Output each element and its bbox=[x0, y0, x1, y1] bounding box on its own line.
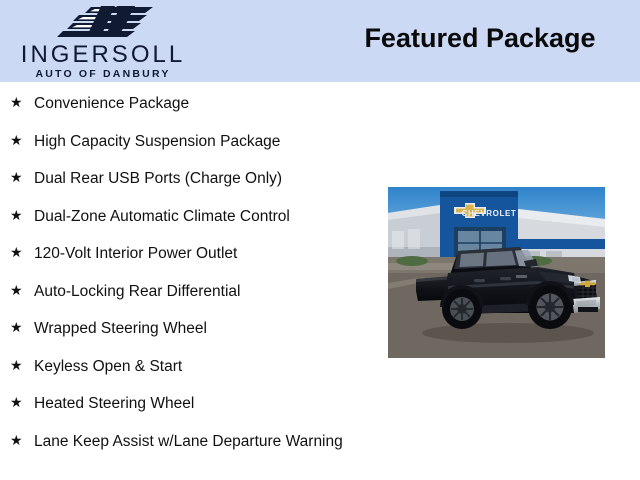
header-band: INGERSOLL AUTO OF DANBURY Featured Packa… bbox=[0, 0, 640, 82]
star-bullet-icon: ★ bbox=[10, 280, 23, 301]
svg-text:CHEVROLET: CHEVROLET bbox=[462, 209, 517, 218]
vehicle-photo: CHEVROLET bbox=[388, 187, 605, 358]
list-item-label: High Capacity Suspension Package bbox=[34, 131, 280, 152]
winged-dealer-emblem-icon bbox=[49, 4, 161, 38]
list-item: ★ Dual-Zone Automatic Climate Control bbox=[8, 201, 360, 239]
list-item-label: Auto-Locking Rear Differential bbox=[34, 281, 241, 302]
list-item: ★ Convenience Package bbox=[8, 88, 360, 126]
list-item-label: Dual Rear USB Ports (Charge Only) bbox=[34, 168, 282, 189]
dealer-tagline: AUTO OF DANBURY bbox=[0, 68, 206, 80]
star-bullet-icon: ★ bbox=[10, 242, 23, 263]
list-item-label: Dual-Zone Automatic Climate Control bbox=[34, 206, 290, 227]
star-bullet-icon: ★ bbox=[10, 392, 23, 413]
featured-package-slide: INGERSOLL AUTO OF DANBURY Featured Packa… bbox=[0, 0, 640, 480]
list-item: ★ Heated Steering Wheel bbox=[8, 388, 360, 426]
star-bullet-icon: ★ bbox=[10, 167, 23, 188]
star-bullet-icon: ★ bbox=[10, 205, 23, 226]
list-item-label: Wrapped Steering Wheel bbox=[34, 318, 207, 339]
list-item: ★ Lane Keep Assist w/Lane Departure Warn… bbox=[8, 426, 360, 464]
list-item: ★ Dual Rear USB Ports (Charge Only) bbox=[8, 163, 360, 201]
star-bullet-icon: ★ bbox=[10, 355, 23, 376]
star-bullet-icon: ★ bbox=[10, 317, 23, 338]
star-bullet-icon: ★ bbox=[10, 130, 23, 151]
list-item: ★ High Capacity Suspension Package bbox=[8, 126, 360, 164]
list-item: ★ 120-Volt Interior Power Outlet bbox=[8, 238, 360, 276]
feature-list: ★ Convenience Package ★ High Capacity Su… bbox=[8, 88, 360, 463]
list-item-label: 120-Volt Interior Power Outlet bbox=[34, 243, 237, 264]
list-item: ★ Wrapped Steering Wheel bbox=[8, 313, 360, 351]
list-item-label: Keyless Open & Start bbox=[34, 356, 182, 377]
list-item: ★ Keyless Open & Start bbox=[8, 351, 360, 389]
dealer-logo: INGERSOLL AUTO OF DANBURY bbox=[0, 2, 206, 80]
star-bullet-icon: ★ bbox=[10, 92, 23, 113]
list-item: ★ Auto-Locking Rear Differential bbox=[8, 276, 360, 314]
dealer-name: INGERSOLL bbox=[0, 42, 206, 68]
star-bullet-icon: ★ bbox=[10, 430, 23, 451]
list-item-label: Convenience Package bbox=[34, 93, 189, 114]
list-item-label: Lane Keep Assist w/Lane Departure Warnin… bbox=[34, 431, 343, 452]
page-title: Featured Package bbox=[330, 22, 630, 54]
list-item-label: Heated Steering Wheel bbox=[34, 393, 194, 414]
